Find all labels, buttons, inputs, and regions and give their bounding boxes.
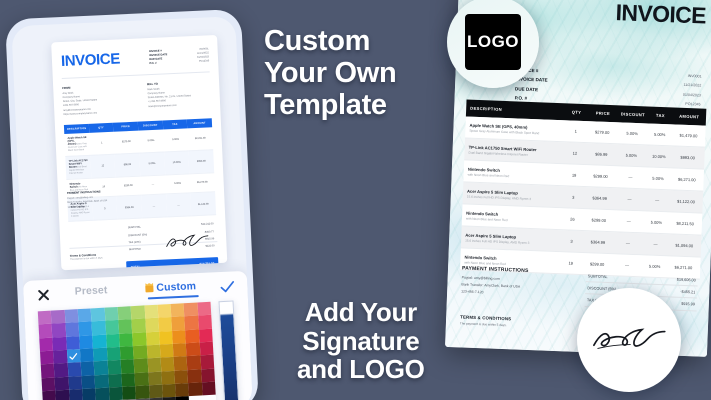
- color-swatch[interactable]: [39, 337, 53, 351]
- subheadline-line: Add Your: [297, 298, 425, 327]
- cell-tax: —: [166, 193, 192, 217]
- color-swatch[interactable]: [171, 303, 185, 317]
- cell-amount: $993.00: [188, 150, 214, 174]
- color-swatch[interactable]: [64, 309, 78, 323]
- signature-mark-large: [590, 320, 668, 360]
- right-meta-value: 11/21/2022: [683, 81, 701, 91]
- phone-screen: INVOICE INVOICE #INVOICE DATEDUE DATEP.O…: [11, 16, 253, 400]
- cell-price: $86.99: [115, 153, 141, 177]
- invoice-preview-sheet[interactable]: INVOICE INVOICE #INVOICE DATEDUE DATEP.O…: [51, 35, 227, 270]
- right-cell-amount: $1,094.00: [667, 242, 701, 248]
- promo-stage: INVOICE INVOICE #INVOICE DATEDUE DATEP.O…: [0, 0, 711, 400]
- color-swatch[interactable]: [82, 388, 96, 400]
- brightness-slider[interactable]: [218, 300, 239, 400]
- color-swatch[interactable]: [94, 361, 108, 375]
- right-cell-amount: $8,211.50: [668, 220, 702, 226]
- color-picker-sheet: Preset Custom: [23, 271, 253, 400]
- total-bar: TOTAL $14,711.30: [126, 257, 218, 270]
- color-swatch[interactable]: [161, 370, 175, 384]
- phone-mockup: INVOICE INVOICE #INVOICE DATEDUE DATEP.O…: [5, 9, 259, 400]
- right-total-value: -$455.21: [680, 290, 695, 295]
- right-total-value: $915.99: [681, 302, 695, 307]
- right-cell-tax: 5.00%: [643, 263, 667, 269]
- color-swatch[interactable]: [188, 369, 202, 383]
- right-cell-description: Acer Aspire 5 Slim Laptop15.6 inches Ful…: [463, 188, 562, 202]
- right-column-header: AMOUNT: [672, 113, 706, 119]
- right-cell-amount: $6,271.00: [667, 264, 701, 270]
- color-swatch-grid[interactable]: [38, 302, 217, 400]
- color-swatch[interactable]: [106, 347, 120, 361]
- color-swatch[interactable]: [172, 330, 186, 344]
- right-cell-tax: —: [643, 241, 667, 247]
- right-cell-qty: 26: [560, 216, 584, 222]
- color-swatch[interactable]: [42, 390, 56, 400]
- color-swatch[interactable]: [200, 355, 214, 369]
- total-row-label: SUBTOTAL: [128, 226, 141, 230]
- right-cell-price: $364.99: [585, 195, 614, 201]
- color-swatch[interactable]: [202, 381, 216, 395]
- cell-amount: $1,122.00: [190, 192, 216, 216]
- right-terms: TERMS & CONDITIONS The payment is due wi…: [460, 314, 511, 327]
- color-swatch[interactable]: [149, 384, 163, 398]
- color-swatch[interactable]: [198, 315, 212, 329]
- tab-custom-label: Custom: [156, 280, 196, 294]
- right-cell-tax: 5.00%: [644, 219, 668, 225]
- color-swatch[interactable]: [132, 332, 146, 346]
- cell-discount: 5.00%: [138, 130, 164, 153]
- cell-tax: 5.00%: [163, 128, 189, 151]
- color-swatch[interactable]: [78, 308, 92, 322]
- right-terms-heading: TERMS & CONDITIONS: [460, 314, 511, 321]
- color-swatch[interactable]: [184, 302, 198, 316]
- right-cell-description: Acer Aspire 5 Slim Laptop15.6 inches Ful…: [461, 232, 560, 246]
- color-swatch[interactable]: [107, 360, 121, 374]
- right-cell-qty: 3: [561, 194, 585, 200]
- invoice-meta-labels: INVOICE #INVOICE DATEDUE DATEP.O. #: [149, 47, 168, 66]
- color-swatch[interactable]: [41, 364, 55, 378]
- crown-icon: [145, 285, 153, 292]
- headline-line: Template: [264, 90, 396, 122]
- color-swatch[interactable]: [39, 324, 53, 338]
- headline-line: Your Own: [264, 58, 396, 90]
- color-swatch[interactable]: [186, 342, 200, 356]
- subheadline-line: Signature: [297, 327, 425, 356]
- color-swatch[interactable]: [199, 328, 213, 342]
- cell-amount: $2,221.00: [187, 127, 213, 150]
- right-meta-values: INV000111/21/202201/04/2023PO12345: [682, 72, 701, 110]
- color-swatch[interactable]: [119, 333, 133, 347]
- color-swatch[interactable]: [68, 376, 82, 390]
- right-total-value: $19,606.00: [677, 277, 696, 282]
- color-swatch[interactable]: [122, 386, 136, 400]
- color-swatch[interactable]: [146, 345, 160, 359]
- right-column-header: DISCOUNT: [617, 111, 648, 117]
- color-swatch[interactable]: [92, 321, 106, 335]
- cell-qty: 1: [89, 132, 115, 155]
- color-swatch[interactable]: [201, 368, 215, 382]
- right-cell-qty: 3: [559, 238, 583, 244]
- right-cell-tax: —: [645, 197, 669, 203]
- color-swatch[interactable]: [120, 359, 134, 373]
- right-cell-qty: 12: [563, 150, 587, 156]
- right-cell-description: Apple Watch SE (GPS, 40mm)Space Gray Alu…: [465, 122, 564, 136]
- color-swatch[interactable]: [106, 334, 120, 348]
- color-swatch[interactable]: [66, 336, 80, 350]
- right-payment-lines: Paypal: amy@billing.comBank Transfer: Am…: [461, 274, 558, 299]
- cell-price: $279.00: [114, 131, 140, 154]
- cell-tax: 5.00%: [165, 173, 191, 194]
- total-row-label: DISCOUNT (5%): [128, 233, 147, 237]
- right-cell-price: $364.99: [583, 239, 612, 245]
- right-cell-discount: —: [613, 218, 644, 224]
- color-swatch[interactable]: [108, 373, 122, 387]
- color-swatch[interactable]: [40, 351, 54, 365]
- color-picker-tabs: Preset Custom: [51, 279, 220, 303]
- right-cell-tax: 5.00%: [648, 131, 672, 137]
- color-swatch[interactable]: [105, 320, 119, 334]
- right-line-items-table: DESCRIPTIONQTYPRICEDISCOUNTTAXAMOUNT App…: [460, 99, 706, 279]
- color-swatch[interactable]: [197, 302, 211, 316]
- right-terms-text: The payment is due within 5 days.: [460, 321, 511, 327]
- subheadline: Add YourSignatureand LOGO: [297, 298, 425, 384]
- right-cell-price: $299.00: [584, 217, 613, 223]
- color-swatch[interactable]: [109, 387, 123, 400]
- color-swatch[interactable]: [81, 362, 95, 376]
- logo-placeholder[interactable]: LOGO: [465, 14, 521, 70]
- color-swatch[interactable]: [135, 385, 149, 399]
- color-swatch[interactable]: [92, 334, 106, 348]
- color-swatch[interactable]: [146, 331, 160, 345]
- color-swatch[interactable]: [188, 382, 202, 396]
- color-swatch[interactable]: [53, 337, 67, 351]
- color-swatch[interactable]: [67, 362, 81, 376]
- color-swatch[interactable]: [159, 331, 173, 345]
- right-cell-tax: 10.00%: [647, 153, 671, 159]
- subheadline-line: and LOGO: [297, 355, 425, 384]
- right-cell-qty: 19: [559, 260, 583, 266]
- cell-description: TP-Link AC1750 Smart WiFi RouterDual Ban…: [65, 155, 91, 179]
- check-icon[interactable]: [219, 278, 236, 295]
- color-swatch[interactable]: [162, 384, 176, 398]
- color-swatch[interactable]: [145, 318, 159, 332]
- color-swatch[interactable]: [78, 322, 92, 336]
- cell-tax: 10.00%: [164, 151, 190, 175]
- color-swatch[interactable]: [160, 357, 174, 371]
- cell-qty: 12: [90, 154, 116, 178]
- right-cell-discount: 5.00%: [616, 152, 647, 158]
- right-cell-description: Nintendo Switchwith Neon Blue and Neon R…: [464, 166, 563, 180]
- color-swatch[interactable]: [134, 359, 148, 373]
- color-swatch[interactable]: [185, 329, 199, 343]
- color-swatch[interactable]: [54, 363, 68, 377]
- right-cell-description: Nintendo Switchwith Neon Blue and Neon R…: [462, 210, 561, 224]
- right-column-header: QTY: [564, 109, 588, 115]
- right-column-header: PRICE: [588, 110, 617, 116]
- right-column-header: DESCRIPTION: [466, 105, 565, 114]
- close-icon[interactable]: [35, 287, 52, 304]
- color-picker-body: [24, 300, 253, 400]
- color-swatch[interactable]: [160, 344, 174, 358]
- right-column-header: TAX: [648, 112, 672, 118]
- total-label: TOTAL: [131, 264, 141, 268]
- right-cell-amount: $1,122.00: [669, 198, 703, 204]
- billto-lines: Mark SmithCompany NameStreet Address, No…: [147, 85, 211, 109]
- right-total-label: SUBTOTAL: [588, 274, 608, 279]
- meta-label: P.O. #: [149, 61, 167, 66]
- color-swatch[interactable]: [69, 389, 83, 400]
- color-swatch[interactable]: [118, 319, 132, 333]
- color-swatch[interactable]: [53, 350, 67, 364]
- from-block: FROM Amy ClarkCompany NameStreet, City, …: [62, 83, 126, 117]
- color-swatch[interactable]: [52, 323, 66, 337]
- right-cell-tax: 5.00%: [646, 175, 670, 181]
- color-swatch[interactable]: [135, 372, 149, 386]
- logo-magnifier: LOGO: [447, 0, 539, 88]
- tab-custom[interactable]: Custom: [145, 280, 196, 298]
- right-cell-amount: $1,479.00: [672, 132, 706, 138]
- color-swatch[interactable]: [121, 373, 135, 387]
- invoice-header: INVOICE INVOICE #INVOICE DATEDUE DATEP.O…: [61, 45, 210, 70]
- invoice-meta-values: INV000111/21/202201/04/2023PO12345: [196, 45, 209, 64]
- color-swatch[interactable]: [144, 305, 158, 319]
- color-swatch[interactable]: [133, 345, 147, 359]
- color-swatch[interactable]: [199, 342, 213, 356]
- right-table-body: Apple Watch SE (GPS, 40mm)Space Gray Alu…: [460, 116, 706, 279]
- headline-line: Custom: [264, 26, 396, 58]
- color-swatch[interactable]: [38, 311, 52, 325]
- total-row-value: $12,211.00: [201, 223, 213, 227]
- right-cell-description: TP-Link AC1750 Smart WiFi RouterDual Ban…: [464, 144, 563, 158]
- color-swatch[interactable]: [95, 387, 109, 400]
- color-swatch[interactable]: [171, 317, 185, 331]
- signature-mark: [163, 230, 212, 252]
- address-block: FROM Amy ClarkCompany NameStreet, City, …: [62, 80, 211, 117]
- cell-discount: 5.00%: [139, 152, 165, 176]
- color-swatch[interactable]: [91, 308, 105, 322]
- cell-description: Apple Watch SE (GPS, 40mm)Space Gray Alu…: [64, 133, 90, 156]
- right-cell-price: $279.00: [588, 129, 617, 135]
- right-cell-amount: $993.00: [671, 154, 705, 160]
- logo-text: LOGO: [467, 32, 519, 52]
- cell-amount: $5,279.00: [190, 172, 216, 193]
- color-swatch[interactable]: [95, 374, 109, 388]
- color-swatch-gray[interactable]: [176, 396, 190, 400]
- color-swatch[interactable]: [56, 390, 70, 400]
- color-swatch[interactable]: [41, 377, 55, 391]
- color-swatch[interactable]: [81, 375, 95, 389]
- divider: [62, 72, 210, 80]
- right-cell-amount: $6,271.00: [670, 176, 704, 182]
- tab-preset[interactable]: Preset: [74, 284, 107, 301]
- color-swatch[interactable]: [80, 348, 94, 362]
- right-cell-price: $86.99: [587, 151, 616, 157]
- headline: CustomYour OwnTemplate: [264, 26, 396, 122]
- color-swatch[interactable]: [185, 316, 199, 330]
- signature-magnifier: [577, 288, 681, 392]
- color-swatch[interactable]: [79, 335, 93, 349]
- color-swatch[interactable]: [118, 306, 132, 320]
- color-swatch[interactable]: [65, 322, 79, 336]
- color-swatch[interactable]: [174, 370, 188, 384]
- color-swatch[interactable]: [147, 358, 161, 372]
- right-cell-discount: —: [611, 262, 642, 268]
- color-swatch[interactable]: [104, 307, 118, 321]
- color-swatch[interactable]: [158, 317, 172, 331]
- right-cell-price: $299.00: [583, 261, 612, 267]
- invoice-title: INVOICE: [61, 51, 121, 69]
- billto-block: BILL TO Mark SmithCompany NameStreet Add…: [147, 80, 211, 114]
- right-cell-price: $299.00: [586, 173, 615, 179]
- color-swatch[interactable]: [93, 348, 107, 362]
- check-icon: [69, 351, 78, 360]
- color-swatch[interactable]: [148, 371, 162, 385]
- color-swatch[interactable]: [187, 356, 201, 370]
- right-cell-discount: 5.00%: [616, 130, 647, 136]
- color-swatch[interactable]: [120, 346, 134, 360]
- color-swatch[interactable]: [173, 343, 187, 357]
- color-swatch[interactable]: [175, 383, 189, 397]
- right-payment-instructions: PAYMENT INSTRUCTIONS Paypal: amy@billing…: [461, 265, 558, 299]
- meta-value: PO12345: [197, 60, 209, 65]
- color-swatch[interactable]: [132, 319, 146, 333]
- color-swatch[interactable]: [131, 305, 145, 319]
- color-swatch[interactable]: [51, 310, 65, 324]
- right-cell-qty: 19: [562, 172, 586, 178]
- right-invoice-title: INVOICE: [615, 0, 706, 30]
- right-cell-discount: —: [612, 240, 643, 246]
- color-swatch[interactable]: [174, 356, 188, 370]
- color-swatch[interactable]: [55, 376, 69, 390]
- right-cell-qty: 1: [564, 128, 588, 134]
- color-swatch[interactable]: [67, 349, 81, 363]
- color-swatch[interactable]: [157, 304, 171, 318]
- from-lines: Amy ClarkCompany NameStreet, City, State…: [62, 89, 126, 117]
- total-value: $14,711.30: [199, 261, 214, 266]
- right-cell-discount: —: [614, 196, 645, 202]
- right-cell-discount: —: [615, 174, 646, 180]
